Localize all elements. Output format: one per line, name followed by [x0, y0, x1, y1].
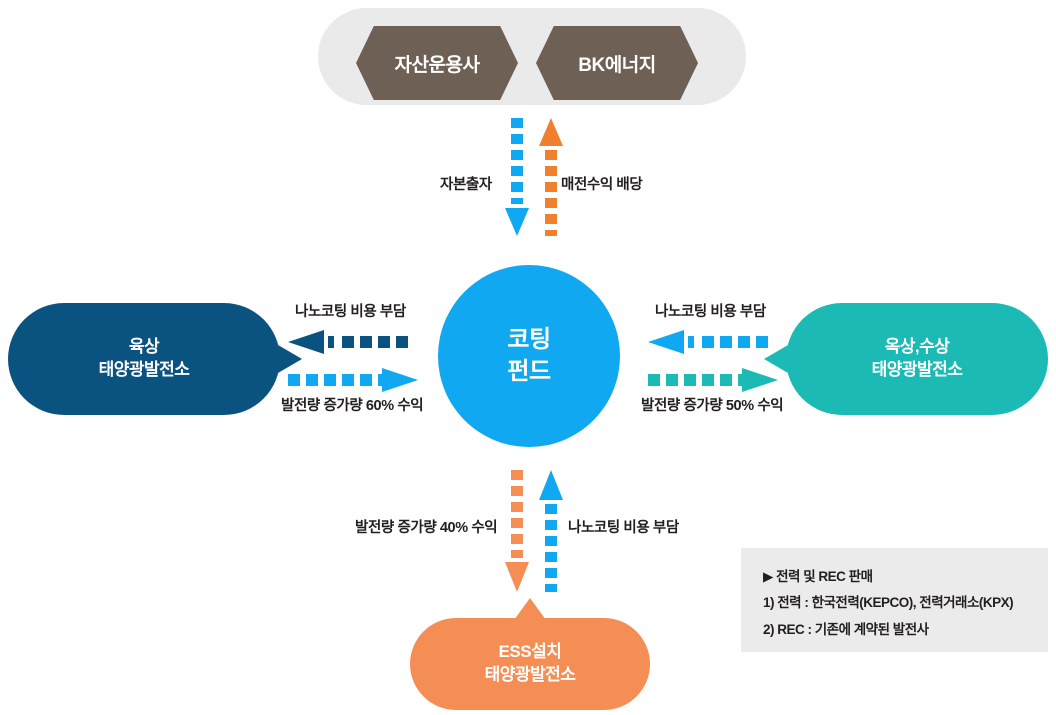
- arrow-label-nano-coating-cost-bottom: 나노코팅 비용 부담: [568, 516, 679, 537]
- arrow-power-sales-dividend-up-icon: [539, 118, 563, 236]
- arrow-label-capital-investment: 자본출자: [440, 173, 492, 194]
- node-rooftop-label-line2: 태양광발전소: [872, 359, 963, 382]
- arrow-nano-coating-cost-left-icon: [288, 330, 418, 354]
- fund-label-line1: 코팅: [507, 324, 550, 356]
- investor-band: 자산운용사 BK에너지: [318, 8, 746, 105]
- fund-node: 코팅 펀드: [438, 265, 620, 447]
- arrow-label-generation-increase-50: 발전량 증가량 50% 수익: [641, 394, 783, 415]
- node-land-label-line1: 육상: [129, 336, 159, 359]
- arrow-label-nano-coating-cost-right: 나노코팅 비용 부담: [655, 300, 766, 321]
- node-ess-solar-plant: ESS설치 태양광발전소: [410, 618, 650, 710]
- fund-label-line2: 펀드: [507, 356, 550, 388]
- investor-hex-bk-energy: BK에너지: [536, 26, 698, 100]
- node-ess-label-line1: ESS설치: [499, 641, 562, 664]
- arrow-nano-coating-cost-right-side-left-icon: [648, 330, 778, 354]
- arrow-label-generation-increase-60: 발전량 증가량 60% 수익: [281, 394, 423, 415]
- legend-line-heading: ▶ 전력 및 REC 판매: [763, 564, 1048, 590]
- arrow-nano-coating-cost-bottom-up-icon: [539, 470, 563, 592]
- node-rooftop-floating-solar-plant: 옥상,수상 태양광발전소: [786, 303, 1048, 415]
- investor-hex-asset-manager: 자산운용사: [356, 26, 518, 100]
- arrow-generation-increase-40-down-icon: [505, 470, 529, 592]
- node-beak-top-icon: [514, 598, 546, 620]
- investor-label-asset-manager: 자산운용사: [395, 50, 480, 77]
- legend-line-2: 2) REC : 기존에 계약된 발전사: [763, 617, 1048, 643]
- legend-line-1: 1) 전력 : 한국전력(KEPCO), 전력거래소(KPX): [763, 590, 1048, 616]
- node-land-label-line2: 태양광발전소: [99, 359, 190, 382]
- arrow-capital-investment-down-icon: [505, 118, 529, 236]
- node-ess-label-line2: 태양광발전소: [485, 664, 576, 687]
- arrow-label-nano-coating-cost-left: 나노코팅 비용 부담: [295, 300, 406, 321]
- arrow-generation-increase-50-right-icon: [648, 368, 778, 392]
- node-rooftop-label-line1: 옥상,수상: [885, 336, 950, 359]
- arrow-label-power-sales-dividend: 매전수익 배당: [561, 173, 642, 194]
- investor-label-bk-energy: BK에너지: [578, 50, 655, 77]
- diagram-canvas: 자산운용사 BK에너지: [0, 0, 1056, 715]
- arrow-label-generation-increase-40: 발전량 증가량 40% 수익: [355, 516, 497, 537]
- legend-box: ▶ 전력 및 REC 판매 1) 전력 : 한국전력(KEPCO), 전력거래소…: [741, 548, 1048, 652]
- node-land-solar-plant: 육상 태양광발전소: [8, 303, 280, 415]
- arrow-generation-increase-60-right-icon: [288, 368, 418, 392]
